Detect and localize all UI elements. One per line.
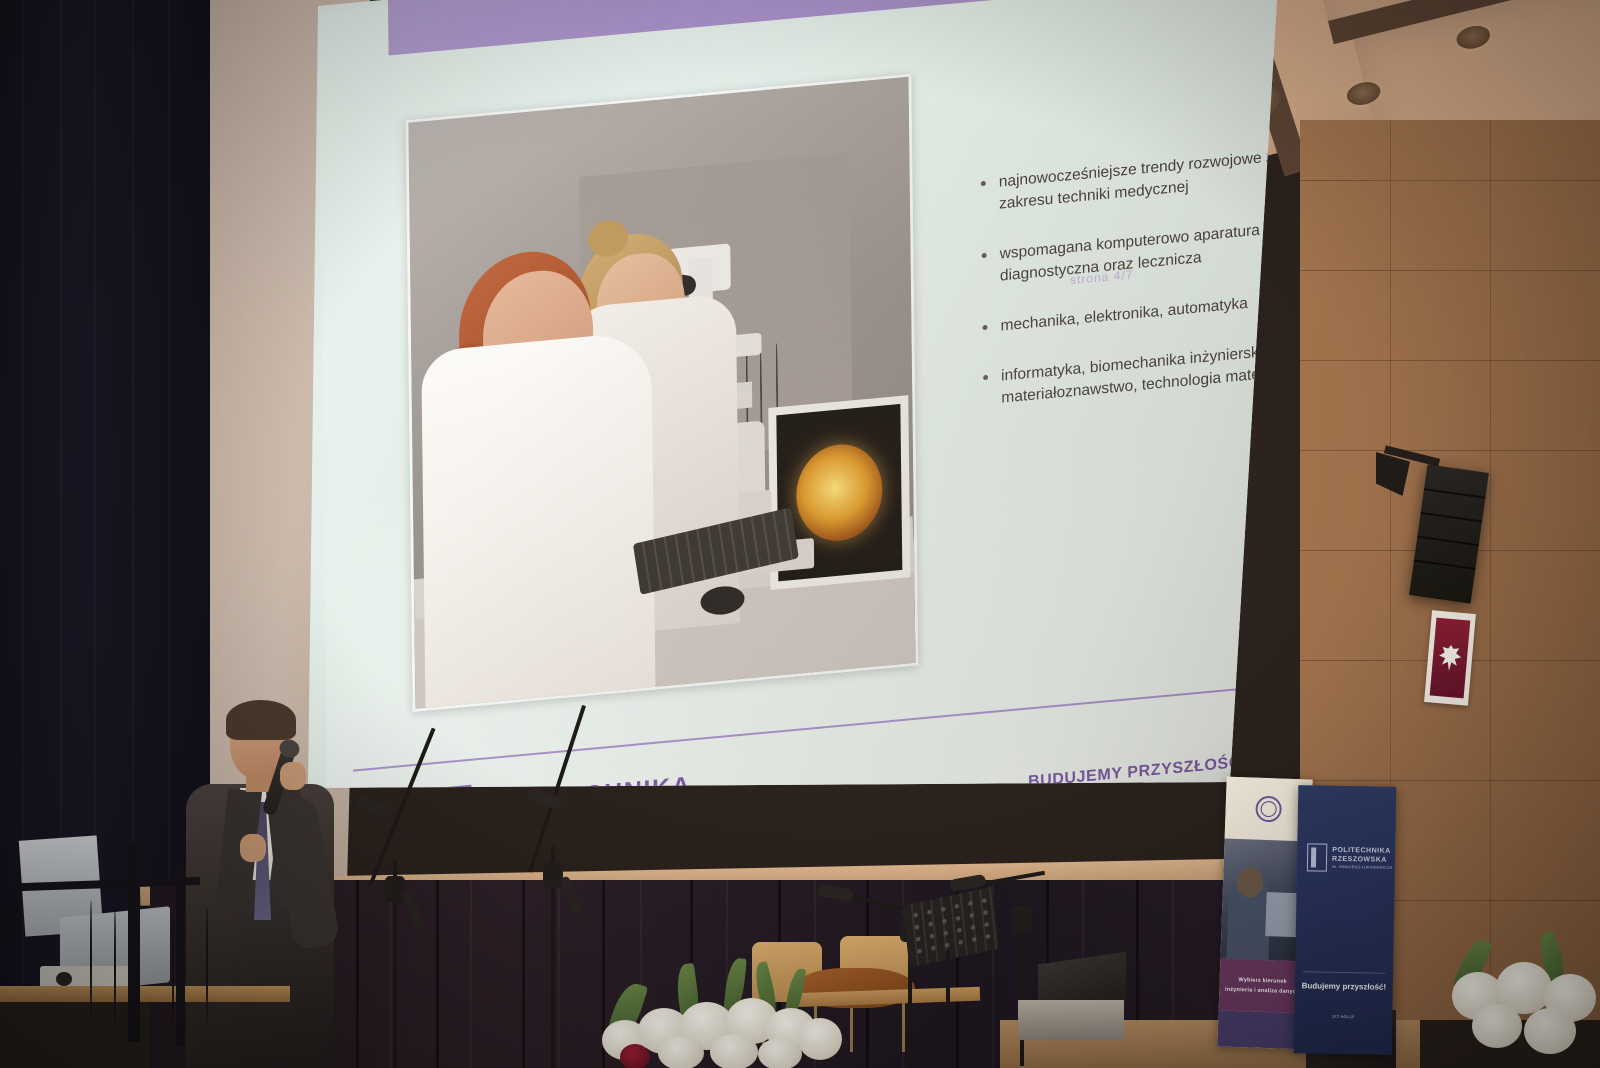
slide-tagline: BUDUJEMY PRZYSZŁOŚĆ!: [1028, 753, 1247, 791]
logo-mark-icon: ✦: [411, 785, 472, 875]
banner-headline-2: inżynieria i analiza danych: [1225, 987, 1300, 996]
logo-line-3: im. IGNACEGO ŁUKASIEWICZA: [485, 829, 692, 860]
cable-bundle: [80, 900, 280, 1060]
projection-screen: kierunek: inżynieria w medycynie strona …: [300, 0, 1280, 900]
banner-tagline: Budujemy przyszłość!: [1295, 981, 1393, 992]
institute-emblem-icon: [1255, 796, 1282, 823]
banner-logo-mark-icon: [1307, 843, 1327, 871]
slide-bullet-list: najnowocześniejsze trendy rozwojowe z za…: [939, 143, 1312, 443]
stage-monitor-base: [1018, 1000, 1124, 1040]
slide-content: kierunek: inżynieria w medycynie strona …: [318, 0, 1309, 892]
slide-photo: [405, 74, 918, 713]
banner-url: prz.edu.pl: [1294, 1013, 1392, 1021]
banner-headline-1: Wybierz kierunek: [1238, 977, 1287, 985]
banner-logo-line-1: POLITECHNIKA: [1332, 847, 1393, 857]
banner-logo-line-2: RZESZOWSKA: [1332, 855, 1393, 865]
white-eagle-icon: [1438, 644, 1462, 672]
banner-logo-line-3: im. IGNACEGO ŁUKASIEWICZA: [1332, 865, 1392, 870]
screen-surface: kierunek: inżynieria w medycynie strona …: [300, 0, 1280, 900]
flower-arrangement-right: [1452, 928, 1600, 1068]
logo-line-1: POLITECHNIKA: [485, 772, 692, 818]
list-item: informatyka, biomechanika inżynierska, m…: [981, 337, 1312, 411]
list-item: mechanika, elektronika, automatyka: [980, 287, 1310, 339]
red-flower: [620, 1044, 650, 1068]
banner-footer: [1217, 1010, 1304, 1049]
microscopy-image: [796, 441, 883, 545]
polish-coat-of-arms: [1424, 610, 1476, 705]
music-stand-pole: [946, 950, 950, 1050]
lab-coat-student-one: [421, 331, 655, 712]
list-item: wspomagana komputerowo aparatura diagnos…: [980, 215, 1311, 289]
logo-line-2: RZESZOWSKA: [485, 799, 692, 845]
auditorium-photo: kierunek: inżynieria w medycynie strona …: [0, 0, 1600, 1068]
list-item: najnowocześniejsze trendy rozwojowe z za…: [979, 143, 1310, 217]
rollup-banner-navy: POLITECHNIKA RZESZOWSKA im. IGNACEGO ŁUK…: [1294, 785, 1397, 1055]
slide-title-banner: [387, 0, 1398, 56]
flower-arrangement: [598, 958, 848, 1068]
